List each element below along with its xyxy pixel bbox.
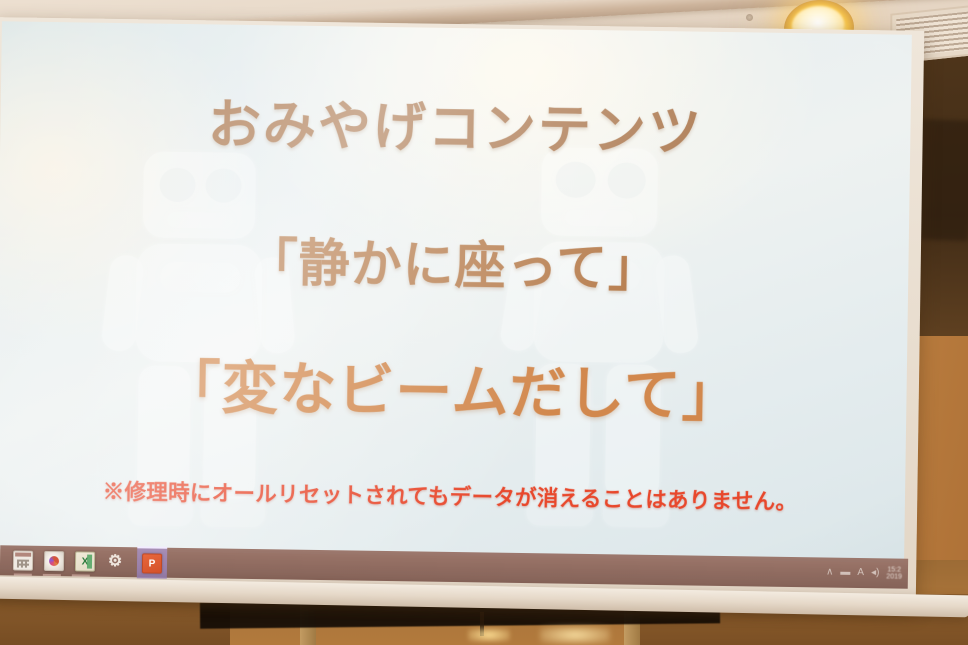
slide-line-1: 「静かに座って」 — [0, 217, 909, 304]
calendar-icon[interactable] — [13, 550, 33, 570]
active-indicator — [72, 574, 90, 576]
taskbar-clock[interactable]: 15:2 2019 — [886, 566, 902, 581]
system-tray: ∧ ▬ A ◂) 15:2 2019 — [826, 565, 908, 581]
photos-icon[interactable] — [44, 551, 64, 571]
active-indicator — [43, 574, 61, 576]
powerpoint-task-button[interactable]: P — [137, 546, 167, 578]
chevron-up-icon[interactable]: ∧ — [826, 568, 833, 578]
ime-icon[interactable]: A — [857, 568, 864, 578]
network-icon[interactable]: ▬ — [840, 568, 850, 578]
clock-date: 2019 — [886, 573, 902, 581]
screenshot-root: おみやげコンテンツ 「静かに座って」 「変なビームだして」 ※修理時にオールリセ… — [0, 0, 968, 645]
volume-icon[interactable]: ◂) — [871, 568, 880, 578]
background-light-glow — [540, 626, 610, 644]
powerpoint-icon[interactable]: P — [142, 553, 162, 573]
presentation-slide: おみやげコンテンツ 「静かに座って」 「変なビームだして」 ※修理時にオールリセ… — [0, 21, 912, 562]
excel-icon[interactable]: X — [75, 551, 95, 571]
settings-gear-icon[interactable]: ⚙ — [106, 553, 124, 571]
hanging-light-glow — [468, 628, 510, 642]
slide-line-2: 「変なビームだして」 — [0, 339, 907, 434]
ceiling-screw — [746, 14, 753, 21]
slide-title: おみやげコンテンツ — [0, 79, 911, 168]
active-indicator — [14, 573, 32, 575]
